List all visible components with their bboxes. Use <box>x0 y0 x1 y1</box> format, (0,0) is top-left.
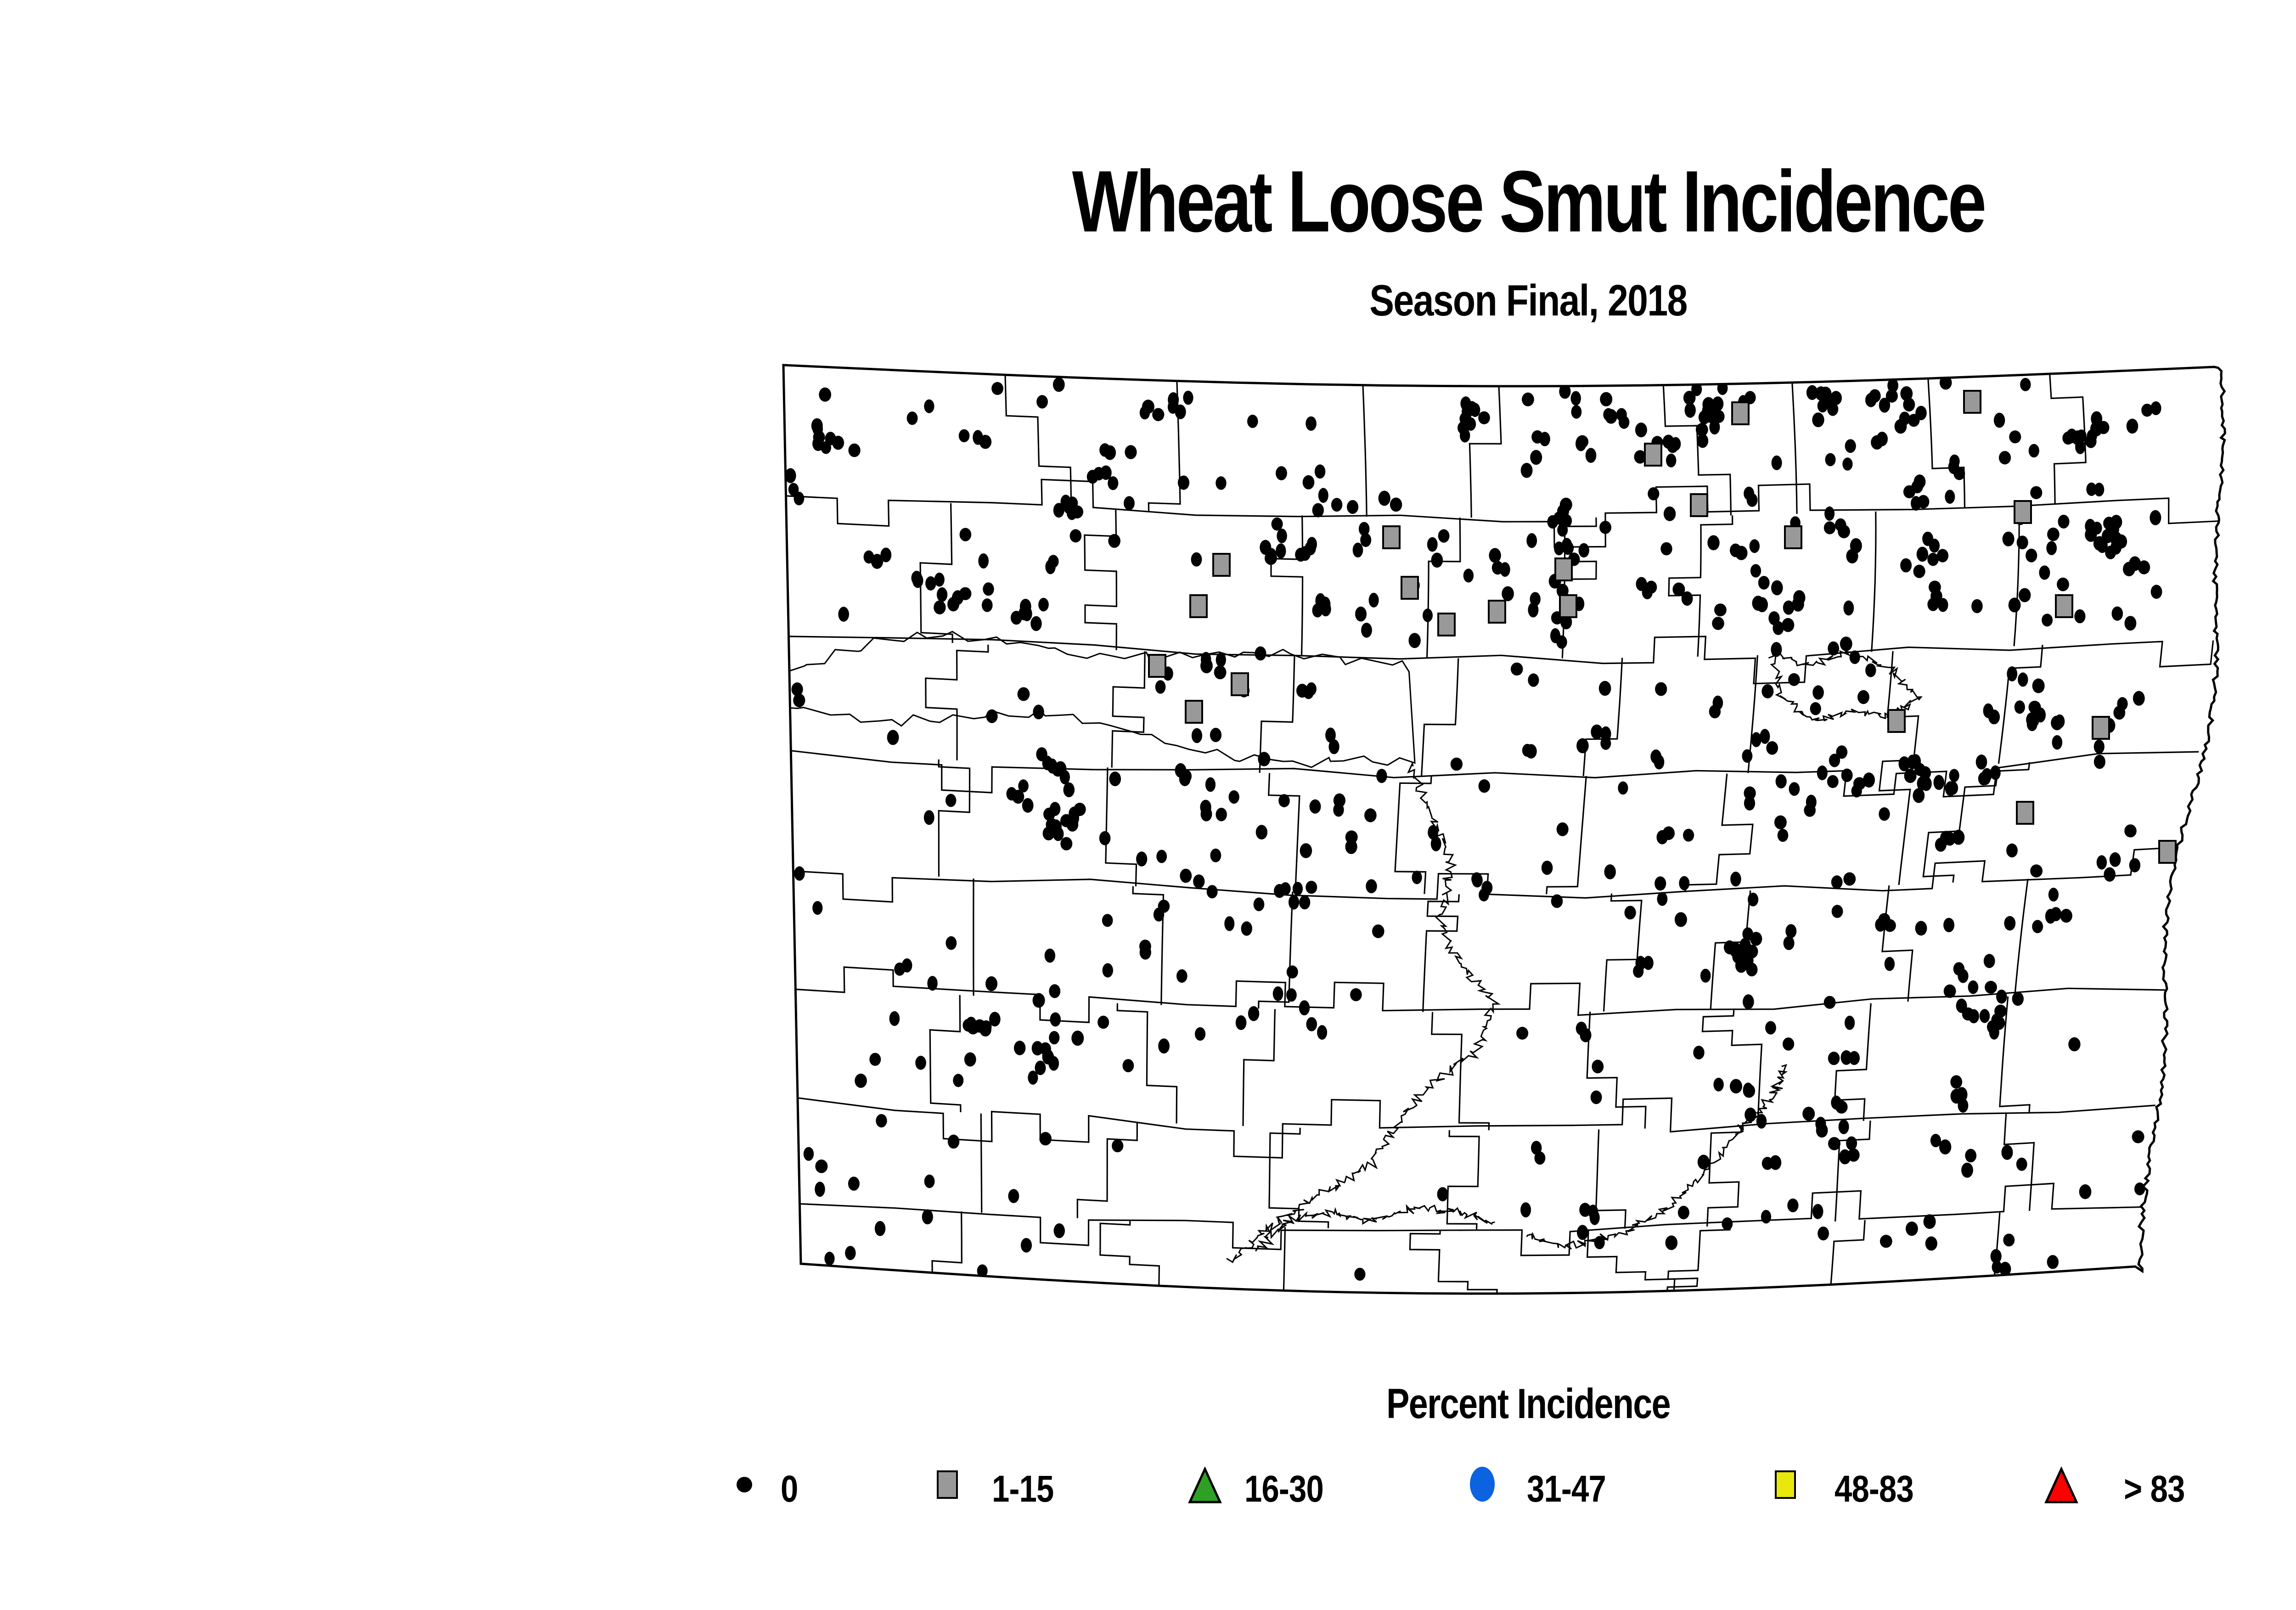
survey-point-zero <box>1850 538 1862 553</box>
county-line-vertical <box>981 1114 982 1213</box>
survey-point-zero <box>1760 729 1770 744</box>
survey-point-zero <box>1050 1013 1061 1027</box>
survey-point-zero <box>1550 628 1560 643</box>
survey-point-zero <box>2151 585 2162 599</box>
survey-point-zero <box>1999 451 2011 464</box>
survey-point-zero <box>1976 754 1987 770</box>
survey-point-zero <box>1657 892 1668 906</box>
survey-point-zero <box>1812 412 1824 427</box>
survey-point-zero <box>1489 548 1501 563</box>
survey-point-zero <box>1648 487 1659 501</box>
survey-point-zero <box>1743 1083 1754 1098</box>
survey-point-zero <box>1247 415 1258 428</box>
survey-point-zero <box>1156 850 1167 863</box>
survey-point-zero <box>1007 787 1017 800</box>
survey-point-zero <box>1913 788 1925 803</box>
survey-point-zero <box>948 1135 959 1149</box>
survey-point-zero <box>1451 758 1463 771</box>
survey-point-zero <box>2009 430 2021 443</box>
survey-point-zero <box>1331 498 1342 512</box>
survey-point-zero <box>1635 422 1647 437</box>
survey-point-zero <box>1500 562 1510 577</box>
survey-point-zero <box>1887 378 1898 393</box>
survey-point-zero <box>1176 969 1187 983</box>
county-line-vertical <box>1604 894 1642 1012</box>
survey-point-zero <box>1758 576 1770 590</box>
survey-point-zero <box>1983 704 1993 718</box>
survey-point-zero <box>1744 796 1755 811</box>
survey-point-zero <box>1471 873 1482 886</box>
survey-point-1-15 <box>2015 501 2031 523</box>
survey-point-zero <box>1355 607 1367 622</box>
triangle-icon <box>2044 1467 2078 1504</box>
survey-point-zero <box>1553 512 1565 525</box>
survey-point-zero <box>1280 882 1291 895</box>
legend-item-label: > 83 <box>2124 1468 2185 1511</box>
survey-point-zero <box>1625 906 1636 920</box>
survey-point-zero <box>1071 1030 1084 1046</box>
survey-point-zero <box>1021 1238 1032 1253</box>
survey-point-zero <box>1347 500 1358 514</box>
survey-point-zero <box>1045 949 1055 963</box>
survey-point-zero <box>1018 687 1030 701</box>
survey-point-zero <box>977 1264 988 1277</box>
survey-point-zero <box>1600 392 1612 406</box>
survey-point-zero <box>2124 824 2137 837</box>
survey-point-zero <box>1980 771 1991 785</box>
survey-point-zero <box>1945 490 1955 504</box>
survey-point-zero <box>794 867 805 881</box>
survey-point-zero <box>1841 1050 1852 1065</box>
survey-point-zero <box>1014 1041 1025 1055</box>
survey-point-1-15 <box>1785 526 1801 548</box>
survey-point-zero <box>1516 1027 1528 1040</box>
survey-point-zero <box>2032 920 2043 933</box>
survey-point-zero <box>1831 875 1843 889</box>
survey-point-zero <box>1318 488 1328 503</box>
survey-point-zero <box>1940 831 1953 845</box>
survey-point-zero <box>1850 650 1860 664</box>
survey-point-zero <box>2110 852 2121 867</box>
survey-point-zero <box>1925 1236 1937 1250</box>
survey-point-zero <box>1571 391 1581 406</box>
survey-point-zero <box>922 1210 933 1225</box>
survey-point-zero <box>1812 1204 1823 1219</box>
survey-point-zero <box>1744 487 1754 501</box>
survey-point-zero <box>2123 562 2135 576</box>
survey-point-zero <box>1216 653 1226 667</box>
survey-point-zero <box>1205 777 1216 792</box>
survey-point-zero <box>1481 881 1492 895</box>
survey-point-zero <box>1845 439 1856 453</box>
survey-point-zero <box>2074 609 2085 623</box>
survey-point-zero <box>1539 432 1550 446</box>
survey-point-zero <box>1884 919 1896 932</box>
survey-point-zero <box>1761 684 1773 698</box>
survey-point-zero <box>1470 403 1480 417</box>
survey-point-zero <box>1989 1025 1999 1040</box>
survey-point-zero <box>1192 728 1202 743</box>
legend-item-label: 16-30 <box>1244 1468 1323 1511</box>
survey-point-zero <box>1604 864 1616 879</box>
survey-point-zero <box>1836 745 1847 759</box>
survey-point-zero <box>1577 1225 1588 1240</box>
survey-point-zero <box>1530 592 1541 606</box>
survey-point-zero <box>1303 475 1315 490</box>
survey-point-zero <box>2097 538 2108 553</box>
survey-point-zero <box>924 810 934 825</box>
survey-point-zero <box>804 1147 814 1161</box>
survey-point-zero <box>1698 1155 1710 1170</box>
survey-point-zero <box>1865 393 1877 407</box>
survey-point-zero <box>1036 395 1048 408</box>
survey-point-zero <box>1949 769 1959 782</box>
survey-point-zero <box>1771 580 1783 596</box>
county-line-vertical <box>1243 1009 1275 1126</box>
survey-point-zero <box>945 794 956 807</box>
survey-point-zero <box>1971 599 1983 614</box>
county-line-vertical <box>926 645 988 760</box>
survey-point-zero <box>2019 588 2031 602</box>
survey-point-zero <box>1818 1227 1829 1240</box>
county-line-vertical <box>1112 651 1145 767</box>
survey-point-zero <box>1594 1236 1605 1250</box>
survey-point-zero <box>1542 861 1553 875</box>
survey-point-zero <box>1299 895 1310 910</box>
survey-point-zero <box>1300 843 1312 858</box>
survey-point-zero <box>2060 909 2072 923</box>
survey-point-zero <box>1033 993 1045 1008</box>
survey-point-zero <box>1815 1117 1826 1131</box>
survey-point-zero <box>964 1053 976 1067</box>
survey-point-zero <box>1522 393 1534 406</box>
survey-point-zero <box>1714 603 1727 616</box>
survey-point-zero <box>1310 799 1321 814</box>
survey-point-zero <box>1949 455 1960 468</box>
survey-point-zero <box>1559 384 1570 399</box>
survey-point-zero <box>1824 996 1836 1009</box>
survey-point-zero <box>1241 921 1252 935</box>
survey-point-zero <box>1287 965 1298 978</box>
survey-point-zero <box>1551 895 1563 908</box>
survey-point-zero <box>1618 782 1628 795</box>
survey-point-zero <box>985 976 997 991</box>
survey-point-zero <box>1592 1060 1604 1074</box>
survey-point-zero <box>824 1252 834 1266</box>
county-line-vertical <box>1085 510 1117 650</box>
survey-point-zero <box>934 573 945 587</box>
survey-point-zero <box>1032 1041 1043 1055</box>
survey-point-zero <box>1353 543 1363 557</box>
survey-point-zero <box>1841 769 1853 782</box>
survey-point-zero <box>1880 1235 1892 1248</box>
survey-point-zero <box>1793 590 1805 605</box>
survey-point-zero <box>1788 673 1800 686</box>
survey-point-zero <box>1306 417 1317 431</box>
survey-point-zero <box>924 1175 935 1188</box>
survey-point-zero <box>2127 419 2138 434</box>
survey-point-zero <box>1350 988 1362 1001</box>
survey-point-zero <box>1579 1203 1591 1217</box>
survey-point-zero <box>1671 437 1681 451</box>
county-line-vertical <box>1269 773 1300 892</box>
county-line-vertical <box>930 995 961 1112</box>
survey-point-zero <box>1746 963 1757 976</box>
survey-point-zero <box>1201 652 1211 667</box>
survey-point-zero <box>2020 378 2031 391</box>
survey-point-zero <box>960 528 972 541</box>
survey-point-zero <box>1831 1096 1841 1110</box>
survey-point-zero <box>1991 1249 2002 1263</box>
survey-point-zero <box>1276 466 1287 480</box>
survey-point-zero <box>1266 548 1277 562</box>
survey-point-zero <box>1258 752 1270 766</box>
survey-point-zero <box>1709 420 1720 434</box>
survey-point-zero <box>1750 539 1760 553</box>
page-title: Wheat Loose Smut Incidence <box>306 152 2296 252</box>
survey-point-zero <box>1054 1223 1065 1238</box>
survey-point-zero <box>1828 1052 1840 1065</box>
survey-point-zero <box>1939 1139 1951 1154</box>
survey-point-zero <box>2032 679 2045 693</box>
county-line-vertical <box>1100 1221 1159 1286</box>
survey-point-zero <box>1479 779 1490 793</box>
survey-point-zero <box>1586 448 1597 463</box>
survey-point-1-15 <box>1401 577 1418 599</box>
survey-point-zero <box>1200 800 1211 815</box>
survey-point-zero <box>1123 1059 1134 1072</box>
survey-point-1-15 <box>1691 494 1707 516</box>
survey-point-zero <box>1390 498 1402 512</box>
survey-point-zero <box>1912 480 1923 493</box>
survey-point-zero <box>1745 1108 1756 1122</box>
county-line-vertical <box>1422 658 1458 776</box>
survey-point-zero <box>1917 547 1928 562</box>
survey-point-zero <box>2112 607 2123 621</box>
survey-point-zero <box>1824 507 1835 521</box>
survey-point-zero <box>1666 454 1676 467</box>
survey-point-zero <box>1802 1107 1815 1121</box>
survey-point-1-15 <box>2159 841 2176 863</box>
survey-point-zero <box>2047 528 2060 541</box>
survey-point-zero <box>1817 766 1828 780</box>
survey-point-zero <box>934 601 945 614</box>
survey-point-zero <box>2125 616 2137 630</box>
survey-point-zero <box>1557 524 1568 537</box>
legend-dot-icon <box>730 1465 762 1502</box>
survey-point-zero <box>1180 869 1192 883</box>
survey-point-zero <box>2017 535 2028 549</box>
legend-item-label: 48-83 <box>1835 1468 1913 1511</box>
survey-point-zero <box>1752 596 1764 611</box>
survey-point-zero <box>1908 414 1920 427</box>
survey-point-zero <box>2026 712 2038 727</box>
survey-point-zero <box>946 936 957 950</box>
survey-point-zero <box>1254 898 1265 912</box>
survey-point-zero <box>1929 580 1941 593</box>
survey-point-zero <box>1761 1210 1771 1224</box>
survey-point-zero <box>1845 1016 1855 1030</box>
survey-point-zero <box>1210 849 1221 862</box>
survey-point-zero <box>1840 636 1852 651</box>
survey-point-zero <box>1664 507 1676 521</box>
survey-point-zero <box>1109 771 1121 786</box>
survey-point-1-15 <box>2056 595 2072 617</box>
survey-point-zero <box>1943 918 1954 932</box>
survey-point-zero <box>1028 1070 1038 1085</box>
survey-point-zero <box>1293 882 1303 895</box>
survey-point-1-15 <box>1383 526 1400 548</box>
survey-point-zero <box>1478 411 1490 424</box>
survey-point-zero <box>1039 1132 1052 1145</box>
survey-point-zero <box>1099 831 1111 845</box>
survey-point-zero <box>959 587 972 600</box>
survey-point-zero <box>2103 517 2115 530</box>
survey-point-zero <box>2079 1184 2092 1199</box>
survey-point-zero <box>1108 534 1120 548</box>
survey-point-zero <box>1045 559 1055 574</box>
county-line-vertical <box>932 1211 962 1272</box>
survey-point-zero <box>1306 1017 1317 1031</box>
survey-point-zero <box>2129 858 2140 873</box>
survey-point-zero <box>1848 1148 1860 1162</box>
survey-point-zero <box>1766 741 1778 755</box>
survey-point-zero <box>1655 682 1667 696</box>
survey-point-zero <box>2003 1233 2015 1246</box>
legend-triangle-icon <box>1187 1465 1219 1502</box>
survey-point-zero <box>1224 916 1234 931</box>
survey-point-zero <box>1097 1016 1109 1029</box>
legend-heading: Percent Incidence <box>275 1380 2296 1428</box>
survey-point-zero <box>1961 1163 1973 1178</box>
survey-point-1-15 <box>1213 554 1230 576</box>
county-line-vertical <box>939 760 969 877</box>
survey-point-zero <box>1535 1151 1546 1165</box>
county-line-vertical <box>1363 385 1367 517</box>
survey-point-zero <box>1675 912 1687 927</box>
survey-point-zero <box>1879 807 1890 821</box>
survey-point-zero <box>1560 498 1572 512</box>
survey-point-zero <box>2006 844 2018 857</box>
survey-point-zero <box>825 432 836 445</box>
survey-point-zero <box>1783 1037 1794 1051</box>
survey-point-zero <box>1053 377 1065 392</box>
survey-point-zero <box>1502 586 1514 602</box>
missouri-river <box>1227 764 1498 1262</box>
survey-point-zero <box>1730 872 1741 886</box>
survey-point-zero <box>1913 565 1925 578</box>
survey-point-zero <box>1682 591 1693 606</box>
survey-point-zero <box>1437 1187 1448 1201</box>
county-line-vertical <box>1702 1008 1761 1125</box>
survey-point-zero <box>1712 617 1724 630</box>
survey-point-zero <box>2094 740 2105 754</box>
cannonball-river <box>1255 1205 1495 1251</box>
survey-point-zero <box>894 963 905 976</box>
survey-point-zero <box>875 1221 885 1236</box>
survey-point-zero <box>1155 680 1166 694</box>
survey-point-zero <box>1828 642 1839 656</box>
survey-point-zero <box>1748 893 1758 906</box>
survey-point-1-15 <box>1232 673 1248 695</box>
survey-point-zero <box>1789 782 1800 796</box>
survey-point-zero <box>915 1056 926 1070</box>
survey-point-zero <box>1312 503 1324 518</box>
survey-point-zero <box>1049 1031 1059 1044</box>
survey-point-zero <box>1683 829 1694 842</box>
county-line-vertical <box>1685 774 1753 892</box>
survey-point-zero <box>2110 540 2122 555</box>
survey-point-zero <box>1937 549 1948 562</box>
survey-point-zero <box>2007 666 2017 681</box>
survey-point-zero <box>889 1011 900 1026</box>
legend-square-icon <box>1770 1465 1802 1502</box>
survey-point-zero <box>1785 924 1796 938</box>
survey-point-zero <box>1666 1235 1678 1250</box>
survey-point-zero <box>1950 1075 1962 1088</box>
survey-point-zero <box>1724 940 1735 954</box>
survey-point-zero <box>1248 1006 1259 1021</box>
survey-point-zero <box>1824 521 1836 534</box>
county-line-vertical <box>1547 776 1587 894</box>
survey-point-zero <box>1915 921 1927 935</box>
survey-point-zero <box>1183 391 1193 405</box>
county-line-vertical <box>1005 375 1071 508</box>
survey-point-zero <box>1295 548 1306 562</box>
survey-point-zero <box>812 901 822 915</box>
circle-icon <box>1470 1467 1495 1502</box>
survey-point-1-15 <box>1732 402 1749 424</box>
survey-point-zero <box>1306 881 1317 894</box>
survey-point-zero <box>1256 825 1267 839</box>
legend: 01-1516-3031-4748-83> 83 <box>0 1447 2296 1552</box>
survey-point-zero <box>1930 1134 1941 1147</box>
survey-point-zero <box>1438 529 1450 543</box>
county-line-vertical <box>1831 1220 1865 1285</box>
survey-point-zero <box>1924 1214 1936 1229</box>
survey-point-zero <box>1580 1028 1592 1042</box>
survey-point-zero <box>1236 1015 1247 1030</box>
survey-point-1-15 <box>1489 601 1505 623</box>
survey-point-zero <box>2042 614 2053 626</box>
survey-point-zero <box>2141 404 2153 417</box>
survey-point-zero <box>1320 597 1331 612</box>
survey-point-zero <box>1742 948 1753 962</box>
survey-point-zero <box>2052 735 2063 750</box>
survey-point-zero <box>1945 781 1956 796</box>
survey-point-zero <box>1576 738 1589 754</box>
survey-point-zero <box>2117 697 2127 710</box>
survey-point-zero <box>1008 1189 1019 1203</box>
survey-point-zero <box>1707 535 1719 551</box>
survey-point-zero <box>838 607 849 622</box>
survey-point-zero <box>1103 963 1113 978</box>
survey-point-1-15 <box>1645 444 1661 466</box>
survey-point-zero <box>1768 611 1779 625</box>
survey-point-zero <box>1181 770 1192 783</box>
county-line-vertical <box>1667 1226 1730 1291</box>
survey-point-zero <box>1289 895 1299 910</box>
survey-point-zero <box>1650 749 1661 764</box>
survey-point-zero <box>1712 396 1723 411</box>
survey-point-zero <box>1412 871 1422 884</box>
survey-point-zero <box>2132 1130 2144 1143</box>
survey-point-zero <box>2068 1037 2080 1052</box>
survey-point-zero <box>1842 457 1852 470</box>
survey-point-zero <box>1195 1027 1205 1041</box>
survey-point-zero <box>1136 851 1147 866</box>
county-line-horizontal <box>789 636 2213 684</box>
